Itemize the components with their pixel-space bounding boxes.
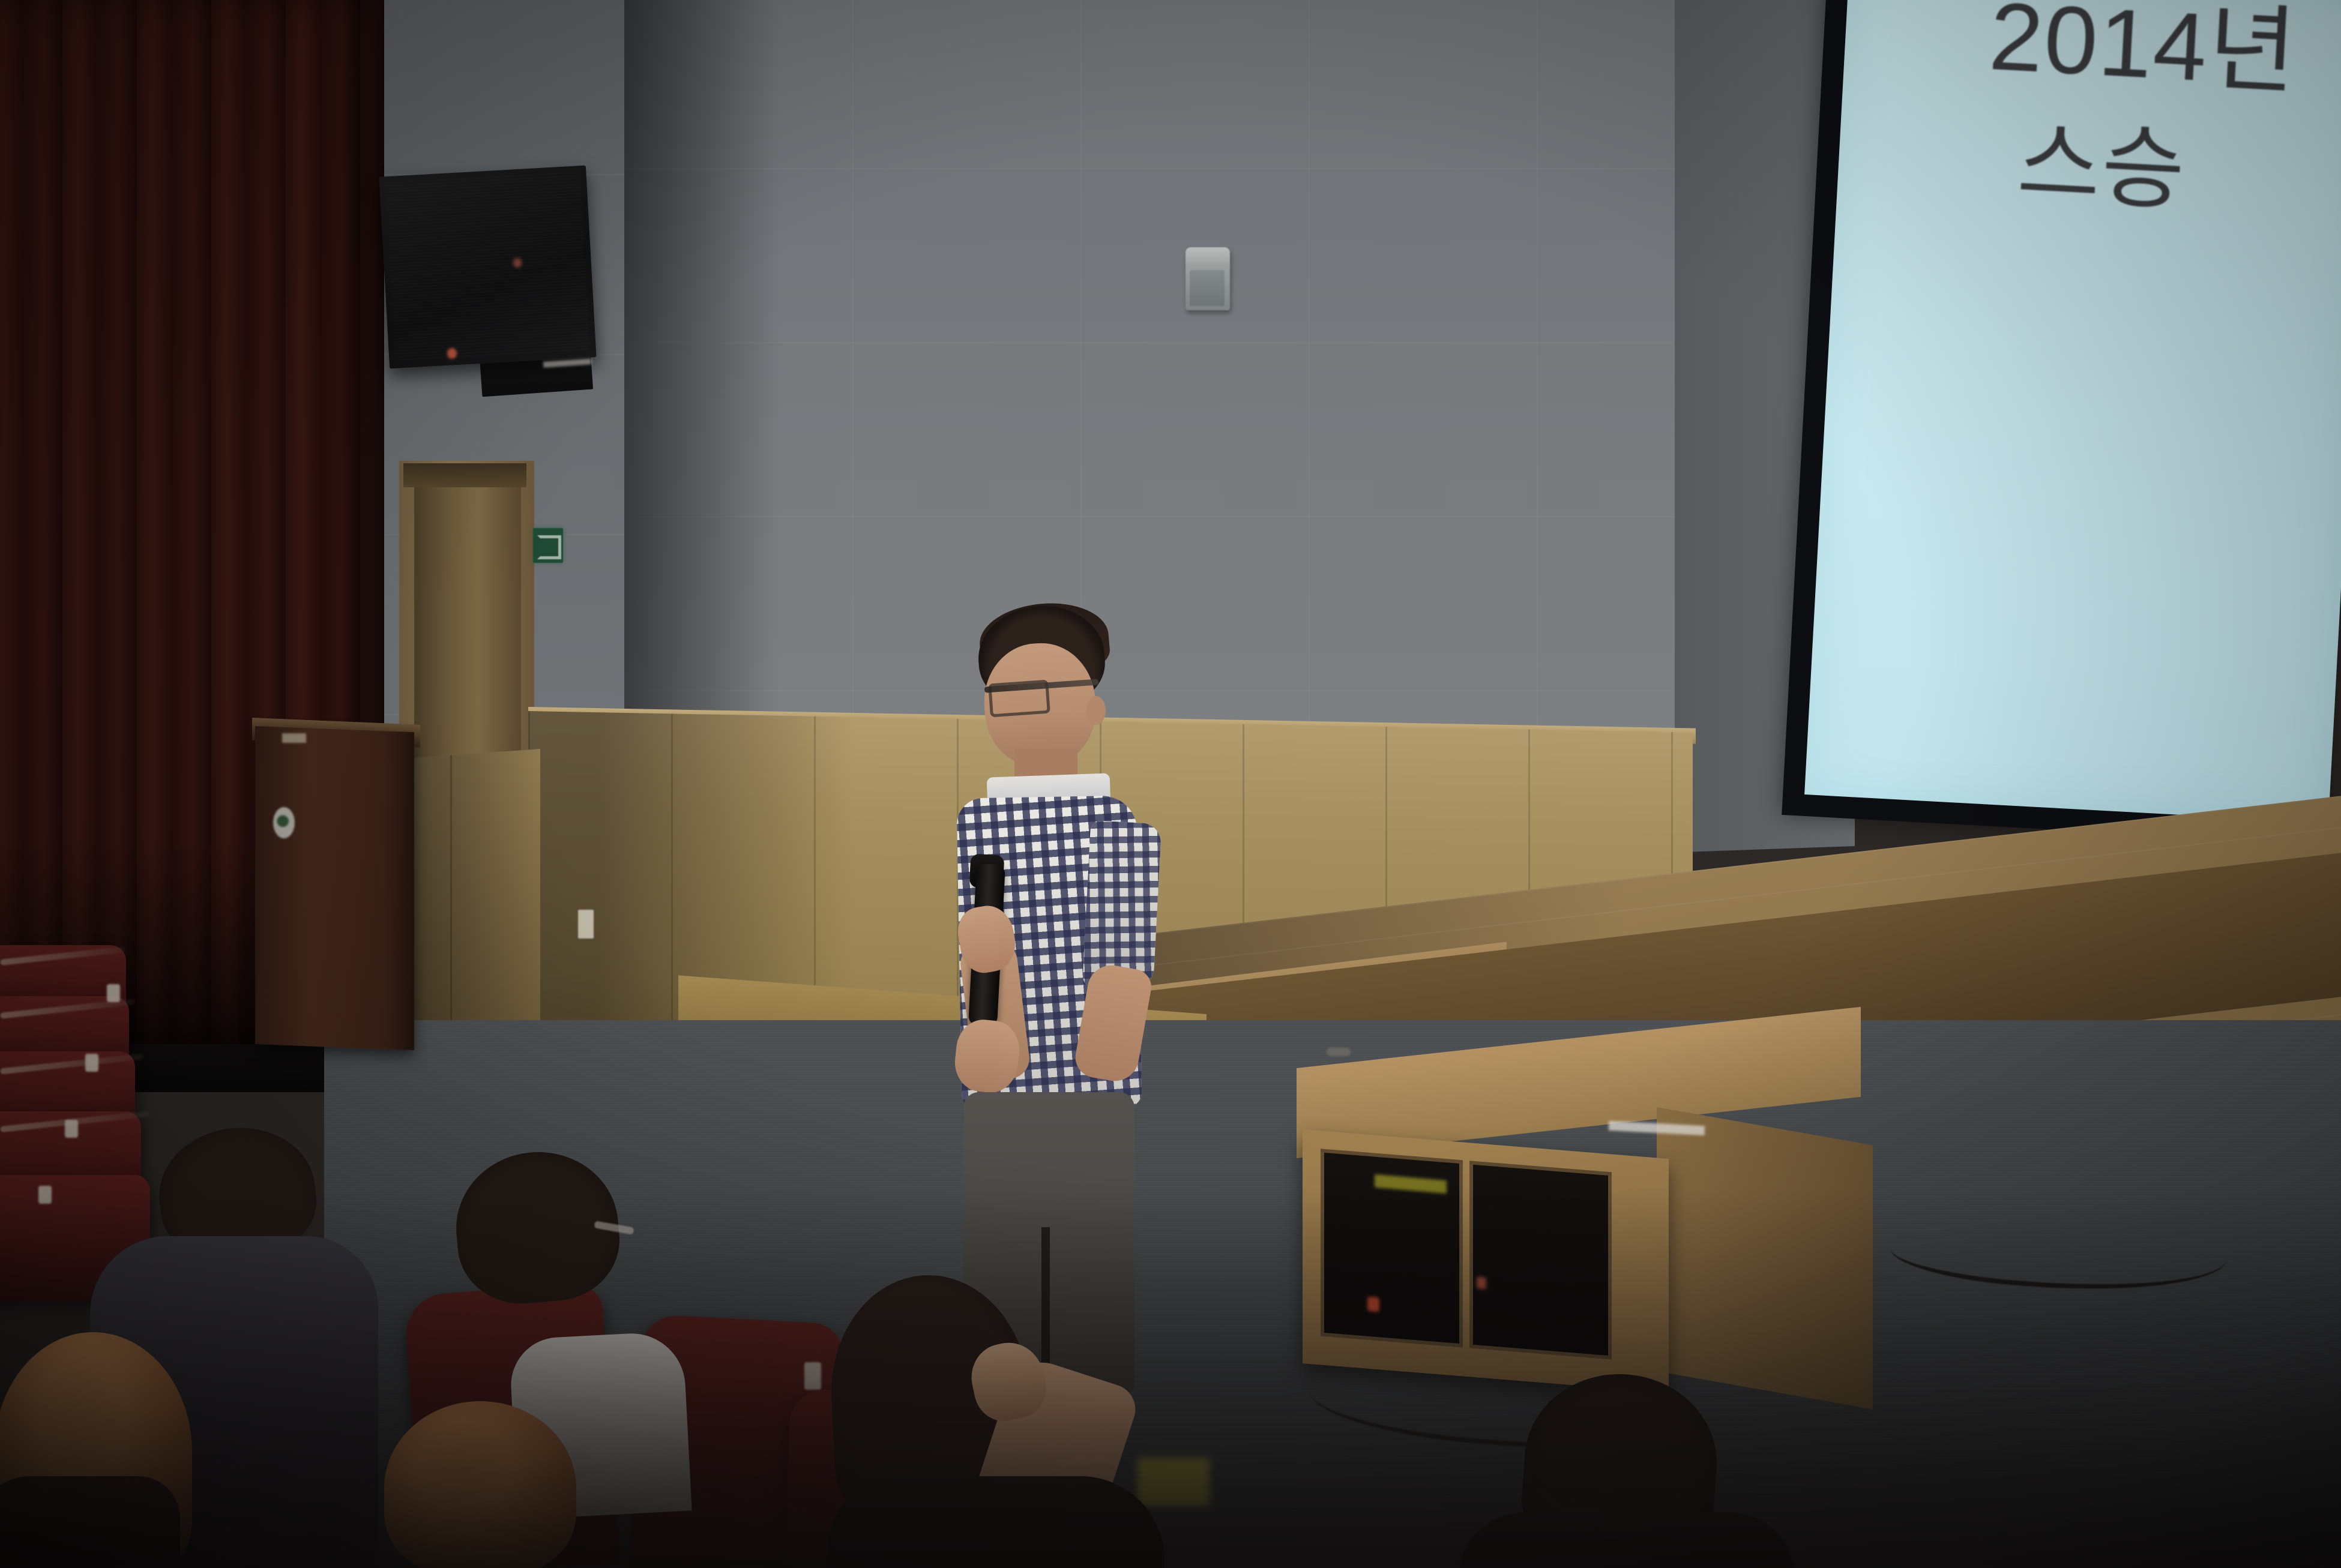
power-outlet xyxy=(578,910,594,939)
slide-line-2: 스승 xyxy=(2016,117,2341,234)
seat-number-tag xyxy=(85,1054,98,1072)
projection-screen-surface: 2014년 스승 xyxy=(1804,0,2341,823)
exit-door-header xyxy=(403,463,526,487)
wall-loudspeaker xyxy=(379,166,596,369)
lectern-emblem xyxy=(273,807,295,838)
lectern-paper xyxy=(282,733,306,743)
presenter-ear xyxy=(1086,696,1106,725)
wall-sensor-lens xyxy=(1190,270,1225,306)
grey-block-wall xyxy=(624,0,1741,756)
loudspeaker-grille xyxy=(385,172,590,362)
slide-line-1: 2014년 xyxy=(1987,0,2341,113)
auditorium-photo-scene: 2014년 스승 xyxy=(0,0,2341,1568)
seat-number-tag xyxy=(65,1120,78,1138)
lectern xyxy=(255,726,414,1050)
wall-shadow xyxy=(624,0,780,762)
seat-number-tag xyxy=(107,984,120,1002)
stage-floor-object xyxy=(1327,1048,1351,1056)
floor-vignette xyxy=(0,1188,2341,1568)
loudspeaker-indicator-led xyxy=(513,258,522,268)
projection-screen: 2014년 스승 xyxy=(1782,0,2341,844)
loudspeaker-power-led xyxy=(447,348,457,359)
presenter-sleeve xyxy=(1082,820,1161,992)
exit-sign-icon xyxy=(533,528,563,563)
